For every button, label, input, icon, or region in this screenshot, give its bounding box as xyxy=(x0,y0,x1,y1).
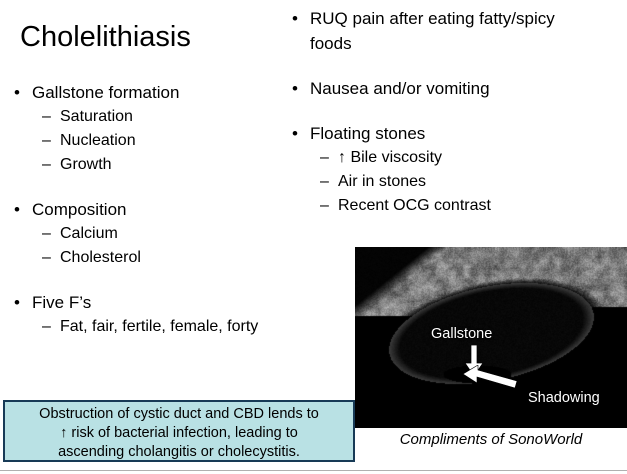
dash-icon: – xyxy=(42,105,51,129)
sub-bullet-label: Nucleation xyxy=(60,132,136,149)
slide-bottom-divider xyxy=(0,470,627,471)
sub-bullet-item: – Cholesterol xyxy=(10,246,350,270)
dash-icon: – xyxy=(42,153,51,177)
bullet-item-continuation: foods xyxy=(288,31,627,56)
dash-icon: – xyxy=(42,315,51,339)
bullet-dot-icon: • xyxy=(14,80,20,105)
sub-bullet-label: Calcium xyxy=(60,225,118,242)
spacer xyxy=(10,270,350,290)
bullet-item: • Five F’s xyxy=(10,290,350,315)
ultrasound-label-shadowing: Shadowing xyxy=(528,389,600,407)
bullet-group-nausea: • Nausea and/or vomiting xyxy=(288,76,627,101)
sub-bullet-label: Recent OCG contrast xyxy=(338,197,491,214)
page-title: Cholelithiasis xyxy=(20,19,191,55)
right-content-column: • RUQ pain after eating fatty/spicy food… xyxy=(288,6,627,218)
ultrasound-image: Gallstone Shadowing xyxy=(355,247,627,428)
dash-icon: – xyxy=(320,170,329,194)
bullet-label: RUQ pain after eating fatty/spicy xyxy=(310,9,555,28)
spacer xyxy=(288,101,627,121)
sub-bullet-label: Cholesterol xyxy=(60,249,141,266)
dash-icon: – xyxy=(320,146,329,170)
callout-box-complications: Obstruction of cystic duct and CBD lends… xyxy=(3,400,355,462)
sub-bullet-label: Growth xyxy=(60,156,112,173)
dash-icon: – xyxy=(320,194,329,218)
dash-icon: – xyxy=(42,222,51,246)
bullet-label: Composition xyxy=(32,200,127,219)
bullet-item: • Floating stones xyxy=(288,121,627,146)
bullet-item: • RUQ pain after eating fatty/spicy xyxy=(288,6,627,31)
bullet-dot-icon: • xyxy=(292,6,298,31)
sub-bullet-item: – Fat, fair, fertile, female, forty xyxy=(10,315,350,339)
bullet-dot-icon: • xyxy=(292,76,298,101)
spacer xyxy=(288,56,627,76)
slide-cholelithiasis: Cholelithiasis • Gallstone formation – S… xyxy=(0,0,627,474)
callout-line: ↑ risk of bacterial infection, leading t… xyxy=(5,424,353,443)
sub-bullet-label: ↑ Bile viscosity xyxy=(338,149,442,166)
bullet-label: Gallstone formation xyxy=(32,83,179,102)
bullet-label: Nausea and/or vomiting xyxy=(310,79,490,98)
bullet-group-floating-stones: • Floating stones – ↑ Bile viscosity – A… xyxy=(288,121,627,218)
sub-bullet-item: – Recent OCG contrast xyxy=(288,194,627,218)
callout-line: ascending cholangitis or cholecystitis. xyxy=(5,443,353,462)
sub-bullet-label: Saturation xyxy=(60,108,133,125)
bullet-dot-icon: • xyxy=(292,121,298,146)
bullet-dot-icon: • xyxy=(14,290,20,315)
bullet-label-wrap: foods xyxy=(310,34,352,53)
bullet-label: Five F’s xyxy=(32,293,91,312)
dash-icon: – xyxy=(42,246,51,270)
bullet-group-ruq-pain: • RUQ pain after eating fatty/spicy food… xyxy=(288,6,627,56)
bullet-label: Floating stones xyxy=(310,124,425,143)
image-attribution: Compliments of SonoWorld xyxy=(355,430,627,450)
ultrasound-label-gallstone: Gallstone xyxy=(431,325,492,343)
dash-icon: – xyxy=(42,129,51,153)
bullet-dot-icon: • xyxy=(14,197,20,222)
sub-bullet-label: Air in stones xyxy=(338,173,426,190)
bullet-group-five-fs: • Five F’s – Fat, fair, fertile, female,… xyxy=(10,290,350,339)
left-arrow-icon xyxy=(463,365,519,391)
callout-line: Obstruction of cystic duct and CBD lends… xyxy=(5,405,353,424)
bullet-item: • Nausea and/or vomiting xyxy=(288,76,627,101)
sub-bullet-item: – Air in stones xyxy=(288,170,627,194)
sub-bullet-item: – Calcium xyxy=(10,222,350,246)
sub-bullet-label: Fat, fair, fertile, female, forty xyxy=(60,318,258,335)
sub-bullet-item: – ↑ Bile viscosity xyxy=(288,146,627,170)
